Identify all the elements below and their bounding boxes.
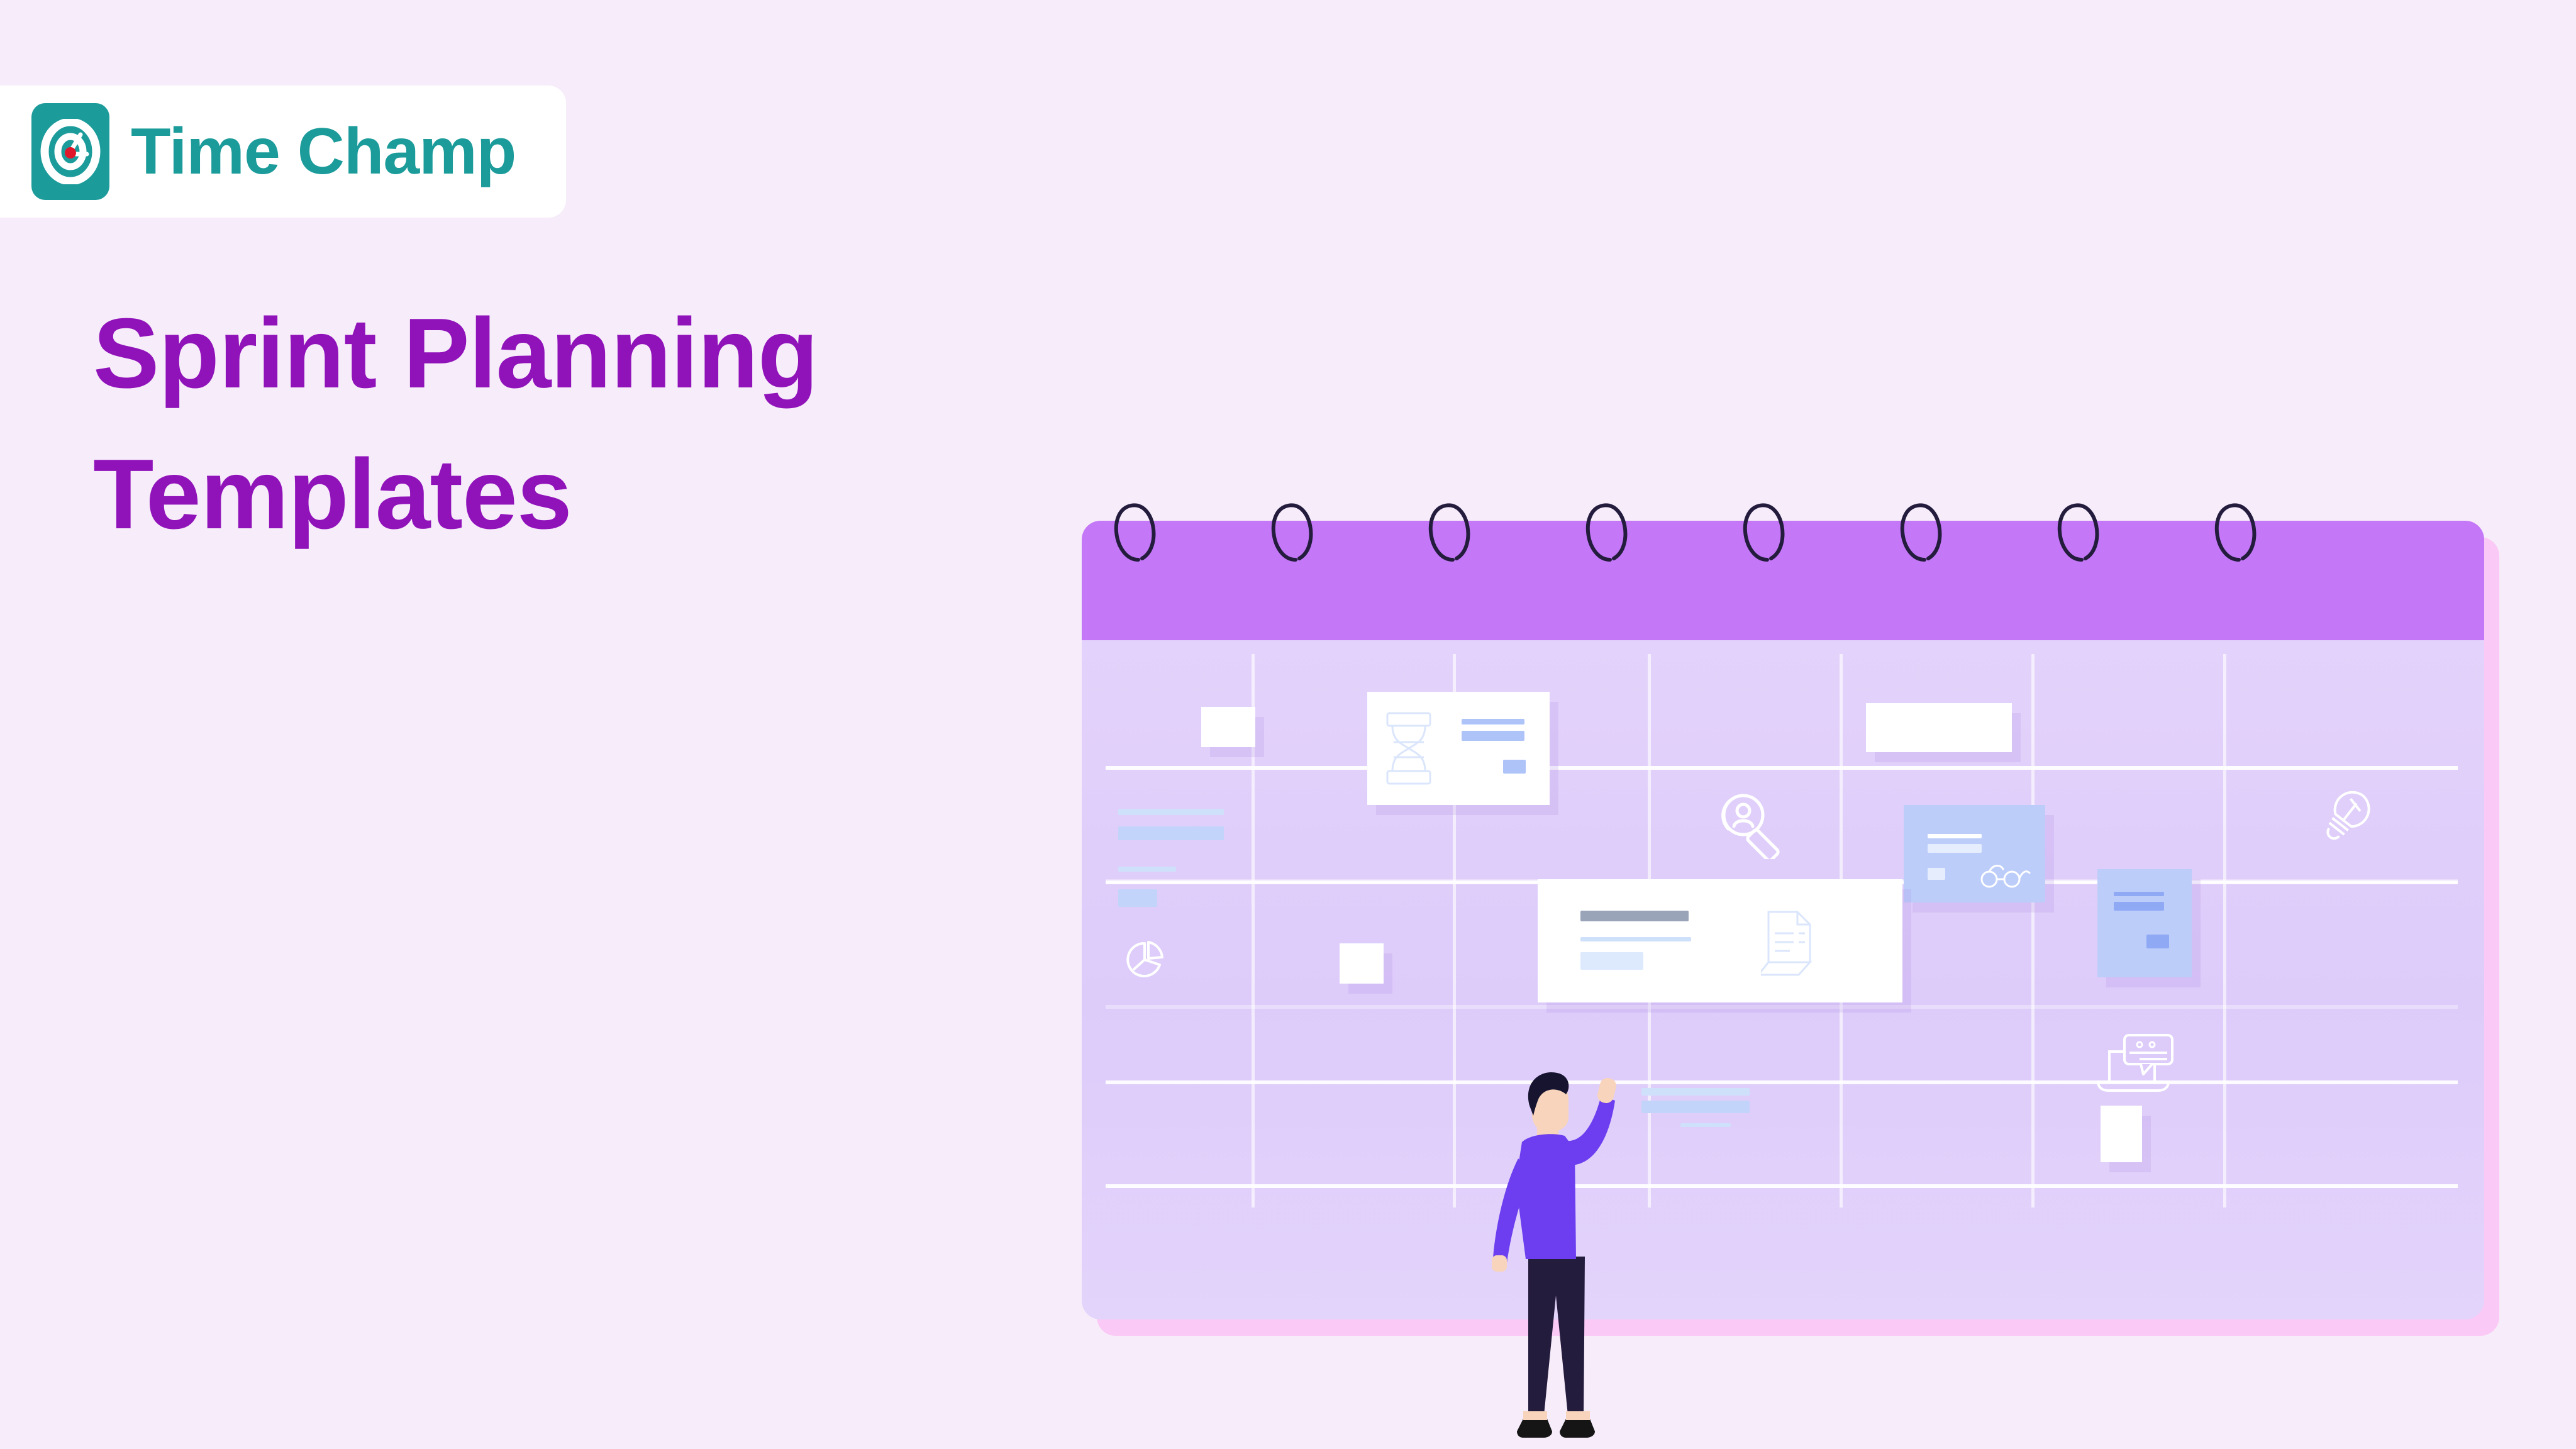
board-card-blue-portrait xyxy=(2097,869,2192,977)
person-search-icon xyxy=(1716,790,1790,862)
document-icon xyxy=(1761,909,1821,982)
page-root: Time Champ Sprint Planning Templates xyxy=(0,0,2576,1449)
board-card-white xyxy=(1340,943,1384,984)
text-bar-dark xyxy=(1580,911,1689,921)
brand-name: Time Champ xyxy=(131,119,516,184)
page-title-line-1: Sprint Planning xyxy=(93,283,1162,424)
board-card-white xyxy=(1201,707,1255,747)
text-bar xyxy=(1118,889,1157,907)
board-grid xyxy=(1082,640,2484,1319)
board-card-hourglass xyxy=(1367,692,1550,805)
text-bar xyxy=(1680,1123,1731,1127)
grid-line-h xyxy=(1106,1005,2458,1009)
brand-logo[interactable]: Time Champ xyxy=(0,86,566,218)
board xyxy=(1082,521,2484,1319)
text-bar xyxy=(1928,834,1982,838)
page-title-line-2: Templates xyxy=(93,424,1162,565)
grid-line-h xyxy=(1106,766,2458,770)
text-bar xyxy=(2114,902,2164,911)
hourglass-icon xyxy=(1385,712,1433,788)
page-title: Sprint Planning Templates xyxy=(93,283,1162,565)
accent-block xyxy=(1503,760,1526,774)
text-bar xyxy=(1462,719,1524,724)
glasses-icon xyxy=(1979,860,2031,891)
text-bar xyxy=(1641,1088,1750,1096)
sprint-planning-board-illustration xyxy=(1082,521,2484,1319)
text-bar xyxy=(1118,826,1224,840)
lightbulb-icon xyxy=(2318,785,2375,851)
board-card-blue-glasses xyxy=(1904,805,2045,902)
text-bar xyxy=(1118,809,1224,815)
board-header-bar xyxy=(1082,521,2484,640)
text-bar xyxy=(1580,952,1643,970)
text-bar xyxy=(2114,892,2164,896)
standing-person-pointing xyxy=(1491,1069,1654,1449)
text-bar xyxy=(1462,731,1524,741)
text-bar xyxy=(1928,844,1982,853)
accent-block xyxy=(2146,935,2169,948)
grid-line-v xyxy=(2031,654,2035,1207)
grid-line-v xyxy=(2223,654,2226,1207)
board-card-white xyxy=(1866,703,2012,752)
grid-line-h xyxy=(1106,1080,2458,1084)
clock-target-icon xyxy=(31,103,109,200)
text-bar xyxy=(1118,867,1176,872)
accent-block xyxy=(1928,868,1945,880)
text-bar xyxy=(1580,937,1691,941)
board-card-main xyxy=(1538,879,1902,1002)
text-bar xyxy=(1641,1101,1750,1113)
grid-line-h xyxy=(1106,1184,2458,1188)
pie-chart-icon xyxy=(1123,937,1169,985)
laptop-chat-icon xyxy=(2094,1030,2182,1102)
board-card-white xyxy=(2101,1106,2142,1162)
